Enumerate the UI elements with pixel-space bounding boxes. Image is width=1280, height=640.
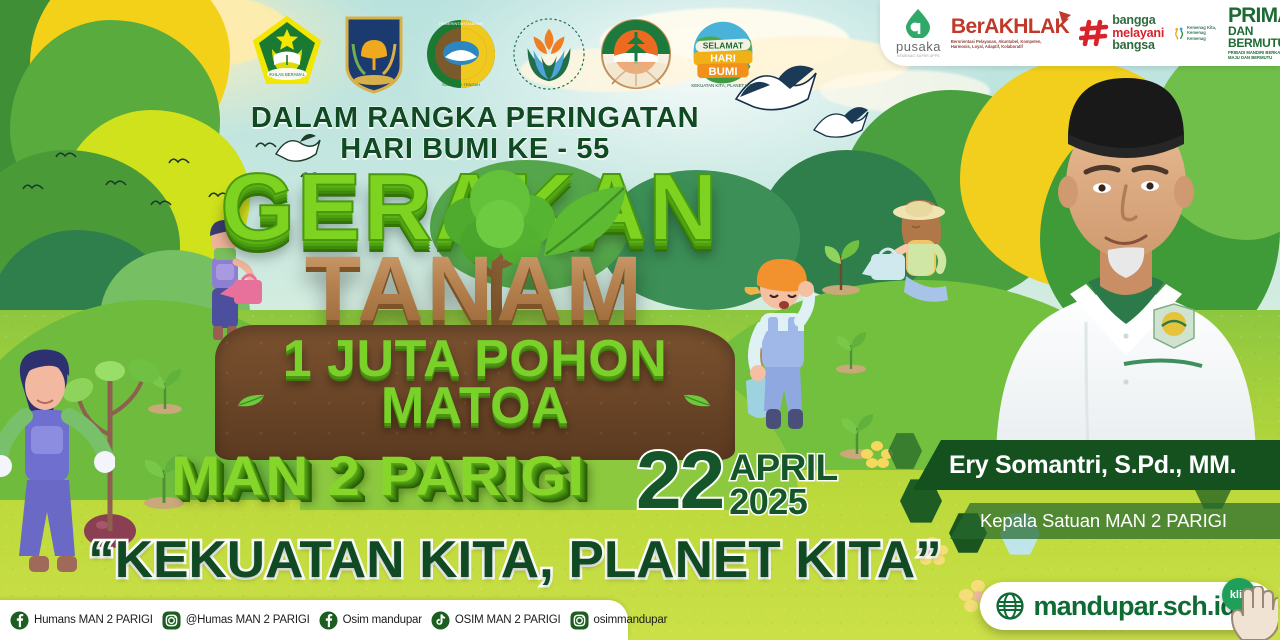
prima-sublabel: PRIBADI MANDIRI BERKARYA, MAJU DAN BERMU… — [1228, 50, 1280, 61]
kemendikbud-tut-wuri-handayani-logo — [512, 13, 586, 95]
pemkab-parigi-moutong-logo — [337, 13, 411, 95]
berakhlak-sublabel: Berorientasi Pelayanan, Akuntabel, Kompe… — [951, 39, 1059, 49]
kemenag-kkm-logo: Kemenag Kita, Kemenag Kemenag — [1174, 20, 1218, 46]
pusaka-logo: pusaka KEMENAG SUPER APPS — [896, 8, 941, 59]
instagram-icon[interactable] — [570, 611, 589, 630]
poster-canvas: IKHLAS BERAMAL PEMERINTAH — [0, 0, 1280, 640]
bangga-melayani-bangsa-logo: bangga melayani bangsa — [1079, 14, 1164, 52]
event-date-day: 22 — [636, 446, 723, 517]
social-label: OSIM MAN 2 PARIGI — [455, 614, 561, 626]
person-name-plate: Ery Somantri, S.Pd., MM. — [913, 440, 1280, 490]
pusaka-label: pusaka — [896, 40, 941, 53]
social-item-tiktok-osim[interactable]: OSIM MAN 2 PARIGI — [431, 611, 561, 630]
hashtag-icon — [1079, 18, 1109, 48]
person-name: Ery Somantri, S.Pd., MM. — [949, 451, 1236, 480]
social-item-facebook-humas[interactable]: Humans MAN 2 PARIGI — [10, 611, 153, 630]
tiktok-icon[interactable] — [431, 611, 450, 630]
kemenag-logo: IKHLAS BERAMAL — [250, 13, 324, 95]
website-badge[interactable]: mandupar.sch.id klik — [980, 582, 1274, 630]
person-title: Kepala Satuan MAN 2 PARIGI — [980, 510, 1227, 532]
social-item-facebook-osim[interactable]: Osim mandupar — [319, 611, 422, 630]
berakhlak-label: BerAKHLAK — [951, 17, 1069, 37]
government-branding-panel: pusaka KEMENAG SUPER APPS BerAKHLAK Bero… — [880, 0, 1280, 66]
social-label: Osim mandupar — [343, 614, 422, 626]
event-tagline: “KEKUATAN KITA, PLANET KITA” — [71, 534, 958, 586]
pusaka-sublabel: KEMENAG SUPER APPS — [897, 55, 939, 59]
svg-text:KEKUATAN KITA, PLANET KITA: KEKUATAN KITA, PLANET KITA — [691, 83, 754, 88]
flower-icon — [860, 440, 894, 468]
social-item-instagram-humas[interactable]: @Humas MAN 2 PARIGI — [162, 611, 310, 630]
svg-text:PEMERINTAH DAERAH: PEMERINTAH DAERAH — [440, 21, 484, 26]
bird-icon — [105, 178, 127, 188]
svg-text:IKHLAS BERAMAL: IKHLAS BERAMAL — [269, 72, 306, 77]
svg-text:SULAWESI TENGAH: SULAWESI TENGAH — [442, 82, 480, 87]
bangga-melayani-label: bangga melayani bangsa — [1112, 14, 1164, 52]
hari-bumi-pohon-logo — [599, 13, 673, 95]
character-girl-watering-seedling — [862, 196, 972, 306]
social-media-bar: Humans MAN 2 PARIGI @Humas MAN 2 PARIGI … — [0, 600, 628, 640]
kkm-sublabel: Kemenag Kita, Kemenag Kemenag — [1187, 25, 1218, 41]
prima-label-2: DAN BERMUTU — [1228, 25, 1280, 49]
social-label: osimmandupar — [594, 614, 668, 626]
event-date: 22 APRIL 2025 — [636, 446, 838, 519]
selamat-hari-bumi-logo: SELAMAT HARI BUMI KEKUATAN KITA, PLANET … — [686, 13, 760, 95]
bmb-line-3: bangsa — [1112, 38, 1155, 52]
social-label: @Humas MAN 2 PARIGI — [186, 614, 310, 626]
hand-pointer-icon — [1226, 586, 1278, 640]
headmaster-photo — [976, 52, 1276, 452]
bird-icon — [22, 182, 44, 192]
social-item-instagram-osim[interactable]: osimmandupar — [570, 611, 668, 630]
prima-label: PRIMA — [1228, 6, 1280, 25]
globe-icon — [996, 592, 1024, 620]
facebook-icon[interactable] — [10, 611, 29, 630]
svg-text:HARI: HARI — [710, 54, 736, 65]
svg-text:SELAMAT: SELAMAT — [703, 40, 744, 50]
website-url: mandupar.sch.id — [1033, 591, 1236, 622]
people-icon — [1174, 20, 1184, 46]
leaf-divider-icon — [236, 392, 266, 410]
institution-logo-row: IKHLAS BERAMAL PEMERINTAH — [250, 8, 760, 100]
headline-tanam: TANAM — [205, 243, 745, 335]
prima-dan-bermutu-logo: PRIMA DAN BERMUTU PRIBADI MANDIRI BERKAR… — [1228, 6, 1280, 61]
event-date-month: APRIL — [729, 450, 838, 485]
bird-icon — [150, 198, 172, 208]
leaf-divider-icon — [682, 392, 712, 410]
headline-matoa: MATOA — [215, 380, 735, 432]
instagram-icon[interactable] — [162, 611, 181, 630]
school-name: MAN 2 PARIGI — [113, 448, 643, 504]
kicker-line-1: DALAM RANGKA PERINGATAN — [251, 102, 699, 134]
person-title-plate: Kepala Satuan MAN 2 PARIGI — [950, 503, 1280, 539]
provinsi-sulawesi-tengah-logo: PEMERINTAH DAERAH SULAWESI TENGAH — [424, 13, 498, 95]
event-date-year: 2025 — [729, 485, 838, 519]
facebook-icon[interactable] — [319, 611, 338, 630]
social-label: Humans MAN 2 PARIGI — [34, 614, 153, 626]
svg-text:BUMI: BUMI — [708, 66, 737, 78]
berakhlak-swoosh-icon — [1058, 10, 1072, 24]
berakhlak-logo: BerAKHLAK Berorientasi Pelayanan, Akunta… — [951, 17, 1069, 49]
